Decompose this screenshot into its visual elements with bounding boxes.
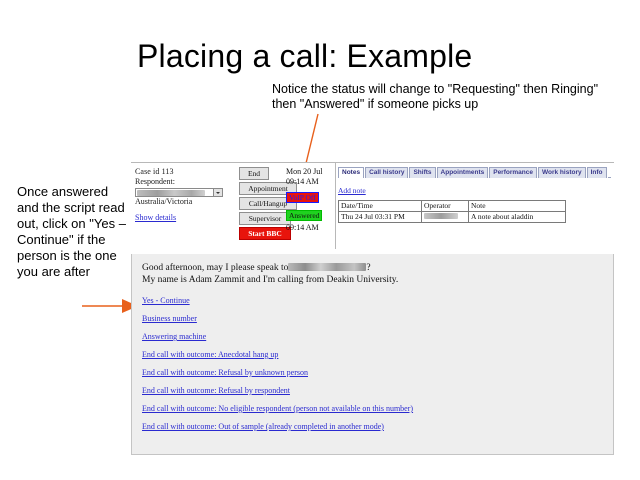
voip-status-badge: VoIP Off <box>286 192 319 203</box>
tab-work-history[interactable]: Work history <box>538 167 586 178</box>
cell-datetime: Thu 24 Jul 03:31 PM <box>339 212 422 223</box>
tab-shifts[interactable]: Shifts <box>409 167 435 178</box>
link-outcome-no-eligible-respondent[interactable]: End call with outcome: No eligible respo… <box>142 404 613 413</box>
script-panel: Good afternoon, may I please speak to? M… <box>131 254 614 455</box>
tab-call-history[interactable]: Call history <box>365 167 408 178</box>
timezone-label: Australia/Victoria <box>135 197 231 207</box>
table-row[interactable]: Thu 24 Jul 03:31 PM A note about aladdin <box>339 212 566 223</box>
outcome-link-list: Yes - Continue Business number Answering… <box>132 296 613 431</box>
notes-table: Date/Time Operator Note Thu 24 Jul 03:31… <box>338 200 566 223</box>
tab-info[interactable]: Info <box>587 167 607 178</box>
cell-note: A note about aladdin <box>469 212 566 223</box>
slide-canvas: Placing a call: Example Notice the statu… <box>0 0 640 480</box>
script-introduction-line: My name is Adam Zammit and I'm calling f… <box>142 274 613 286</box>
table-header-row: Date/Time Operator Note <box>339 201 566 212</box>
chevron-down-icon <box>213 189 222 196</box>
respondent-label: Respondent: <box>135 177 231 187</box>
tab-notes[interactable]: Notes <box>338 167 364 178</box>
call-status-badge: Answered <box>286 210 322 221</box>
page-title: Placing a call: Example <box>137 38 472 75</box>
call-status-panel: Mon 20 Jul 09:14 AM VoIP Off Answered 09… <box>286 167 334 233</box>
respondent-redacted-value <box>137 190 205 196</box>
cell-operator <box>422 212 469 223</box>
column-header-note: Note <box>469 201 566 212</box>
link-outcome-refusal-unknown-person[interactable]: End call with outcome: Refusal by unknow… <box>142 368 613 377</box>
case-details-panel: Case id 113 Respondent: Australia/Victor… <box>135 167 231 225</box>
status-time-bottom: 09:14 AM <box>286 223 334 233</box>
panel-divider <box>335 163 336 249</box>
embedded-app-screenshot: Case id 113 Respondent: Australia/Victor… <box>131 162 614 455</box>
callout-status-note: Notice the status will change to "Reques… <box>272 82 602 112</box>
script-greeting-line: Good afternoon, may I please speak to? <box>142 254 613 274</box>
callout-yes-continue-note: Once answered and the script read out, c… <box>17 184 129 280</box>
column-header-datetime: Date/Time <box>339 201 422 212</box>
column-header-operator: Operator <box>422 201 469 212</box>
link-business-number[interactable]: Business number <box>142 314 613 323</box>
start-bbc-button[interactable]: Start BBC <box>239 227 291 240</box>
end-button[interactable]: End <box>239 167 269 180</box>
supervisor-button[interactable]: Supervisor <box>239 212 291 225</box>
notes-panel: Add note Date/Time Operator Note Thu 24 … <box>338 180 611 223</box>
link-answering-machine[interactable]: Answering machine <box>142 332 613 341</box>
show-details-link[interactable]: Show details <box>135 213 176 222</box>
tab-bar: Notes Call history Shifts Appointments P… <box>338 167 611 178</box>
respondent-name-redacted <box>288 263 366 271</box>
script-greeting-suffix: ? <box>366 263 370 273</box>
link-outcome-refusal-respondent[interactable]: End call with outcome: Refusal by respon… <box>142 386 613 395</box>
operator-redacted-value <box>424 213 458 219</box>
case-id-label: Case id 113 <box>135 167 231 177</box>
link-outcome-anecdotal-hangup[interactable]: End call with outcome: Anecdotal hang up <box>142 350 613 359</box>
add-note-link[interactable]: Add note <box>338 186 366 195</box>
app-top-band: Case id 113 Respondent: Australia/Victor… <box>131 162 614 249</box>
script-greeting-text: Good afternoon, may I please speak to <box>142 263 288 273</box>
status-date: Mon 20 Jul <box>286 167 334 177</box>
status-time-top: 09:14 AM <box>286 177 334 187</box>
link-outcome-out-of-sample[interactable]: End call with outcome: Out of sample (al… <box>142 422 613 431</box>
respondent-select[interactable] <box>135 188 223 197</box>
tab-appointments[interactable]: Appointments <box>437 167 489 178</box>
link-yes-continue[interactable]: Yes - Continue <box>142 296 613 305</box>
tab-strip-filler <box>608 167 611 178</box>
tab-performance[interactable]: Performance <box>489 167 537 178</box>
